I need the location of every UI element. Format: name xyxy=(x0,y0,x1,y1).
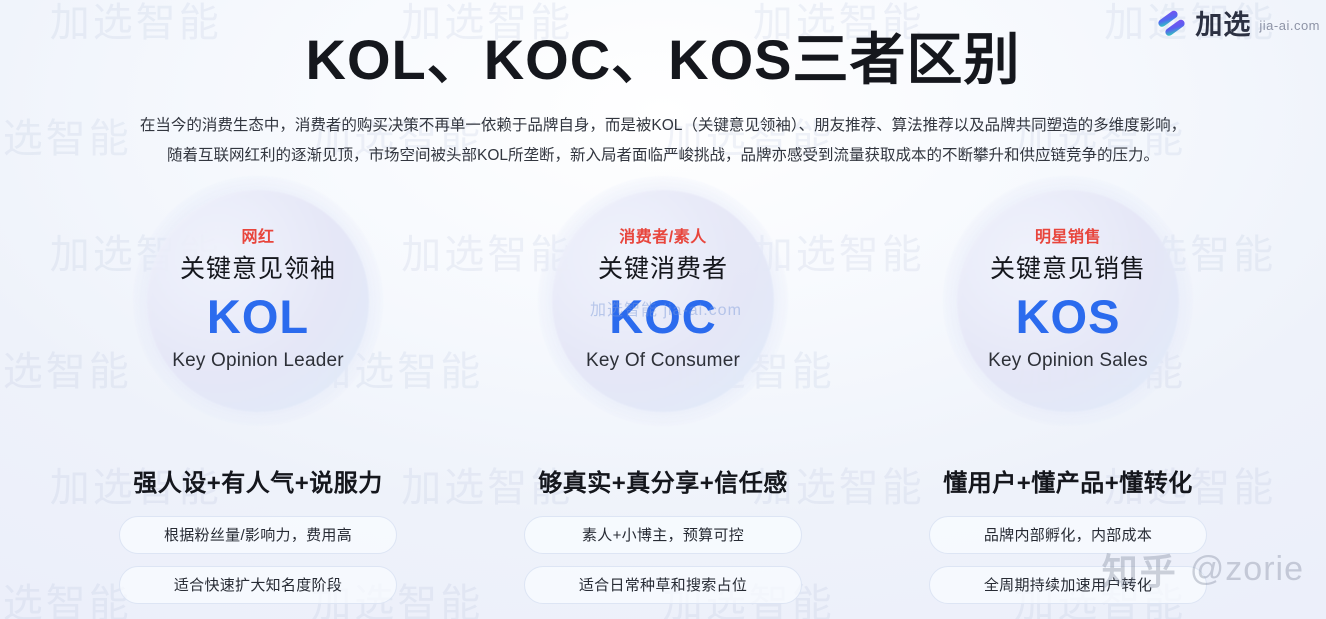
brand-name: 加选 xyxy=(1195,3,1251,42)
column-pills: 品牌内部孵化，内部成本 全周期持续加速用户转化 xyxy=(888,516,1248,604)
role-english-name: Key Opinion Leader xyxy=(172,350,344,373)
intro-paragraph: 在当今的消费生态中，消费者的购买决策不再单一依赖于品牌自身，而是被KOL（关键意… xyxy=(92,111,1234,171)
sphere-content: 消费者/素人 关键消费者 KOC Key Of Consumer xyxy=(586,228,740,372)
role-chinese-name: 关键消费者 xyxy=(598,254,728,285)
intro-line-2: 随着互联网红利的逐渐见顶，市场空间被头部KOL所垄断，新入局者面临严峻挑战，品牌… xyxy=(92,141,1234,171)
role-chinese-name: 关键意见销售 xyxy=(990,254,1146,285)
column-koc: 消费者/素人 关键消费者 KOC Key Of Consumer 够真实+真分享… xyxy=(483,183,843,604)
sphere-kol: 网红 关键意见领袖 KOL Key Opinion Leader xyxy=(140,183,376,419)
pill-item: 全周期持续加速用户转化 xyxy=(929,566,1207,604)
role-chinese-name: 关键意见领袖 xyxy=(180,254,336,285)
jia-xuan-logo-icon xyxy=(1155,8,1189,38)
role-acronym: KOL xyxy=(207,290,309,344)
sphere-koc: 消费者/素人 关键消费者 KOC Key Of Consumer xyxy=(545,183,781,419)
sphere-kos: 明星销售 关键意见销售 KOS Key Opinion Sales xyxy=(950,183,1186,419)
column-tagline: 懂用户+懂产品+懂转化 xyxy=(943,463,1193,498)
pill-item: 适合日常种草和搜索占位 xyxy=(524,566,802,604)
slide-canvas: 加选智能 加选智能 加选智能 加选智能 加选智能 加选智能 加选智能 加选智能 … xyxy=(0,0,1326,619)
comparison-columns: 网红 关键意见领袖 KOL Key Opinion Leader 强人设+有人气… xyxy=(0,183,1326,604)
role-tag: 网红 xyxy=(241,228,274,247)
column-tagline: 够真实+真分享+信任感 xyxy=(538,463,788,498)
role-acronym: KOS xyxy=(1016,290,1121,344)
page-title: KOL、KOC、KOS三者区别 xyxy=(0,29,1326,91)
column-pills: 根据粉丝量/影响力，费用高 适合快速扩大知名度阶段 xyxy=(78,516,438,604)
role-tag: 明星销售 xyxy=(1035,228,1101,247)
pill-item: 根据粉丝量/影响力，费用高 xyxy=(119,516,397,554)
sphere-content: 网红 关键意见领袖 KOL Key Opinion Leader xyxy=(172,228,344,372)
role-tag: 消费者/素人 xyxy=(619,228,706,247)
brand-domain: jia-ai.com xyxy=(1259,18,1320,33)
pill-item: 品牌内部孵化，内部成本 xyxy=(929,516,1207,554)
role-acronym: KOC xyxy=(609,290,716,344)
pill-item: 素人+小博主，预算可控 xyxy=(524,516,802,554)
intro-line-1: 在当今的消费生态中，消费者的购买决策不再单一依赖于品牌自身，而是被KOL（关键意… xyxy=(92,111,1234,141)
role-english-name: Key Opinion Sales xyxy=(988,350,1148,373)
sphere-content: 明星销售 关键意见销售 KOS Key Opinion Sales xyxy=(988,228,1148,372)
column-kol: 网红 关键意见领袖 KOL Key Opinion Leader 强人设+有人气… xyxy=(78,183,438,604)
role-english-name: Key Of Consumer xyxy=(586,350,740,373)
pill-item: 适合快速扩大知名度阶段 xyxy=(119,566,397,604)
column-tagline: 强人设+有人气+说服力 xyxy=(133,463,383,498)
brand-logo[interactable]: 加选 jia-ai.com xyxy=(1155,3,1320,42)
column-kos: 明星销售 关键意见销售 KOS Key Opinion Sales 懂用户+懂产… xyxy=(888,183,1248,604)
column-pills: 素人+小博主，预算可控 适合日常种草和搜索占位 xyxy=(483,516,843,604)
